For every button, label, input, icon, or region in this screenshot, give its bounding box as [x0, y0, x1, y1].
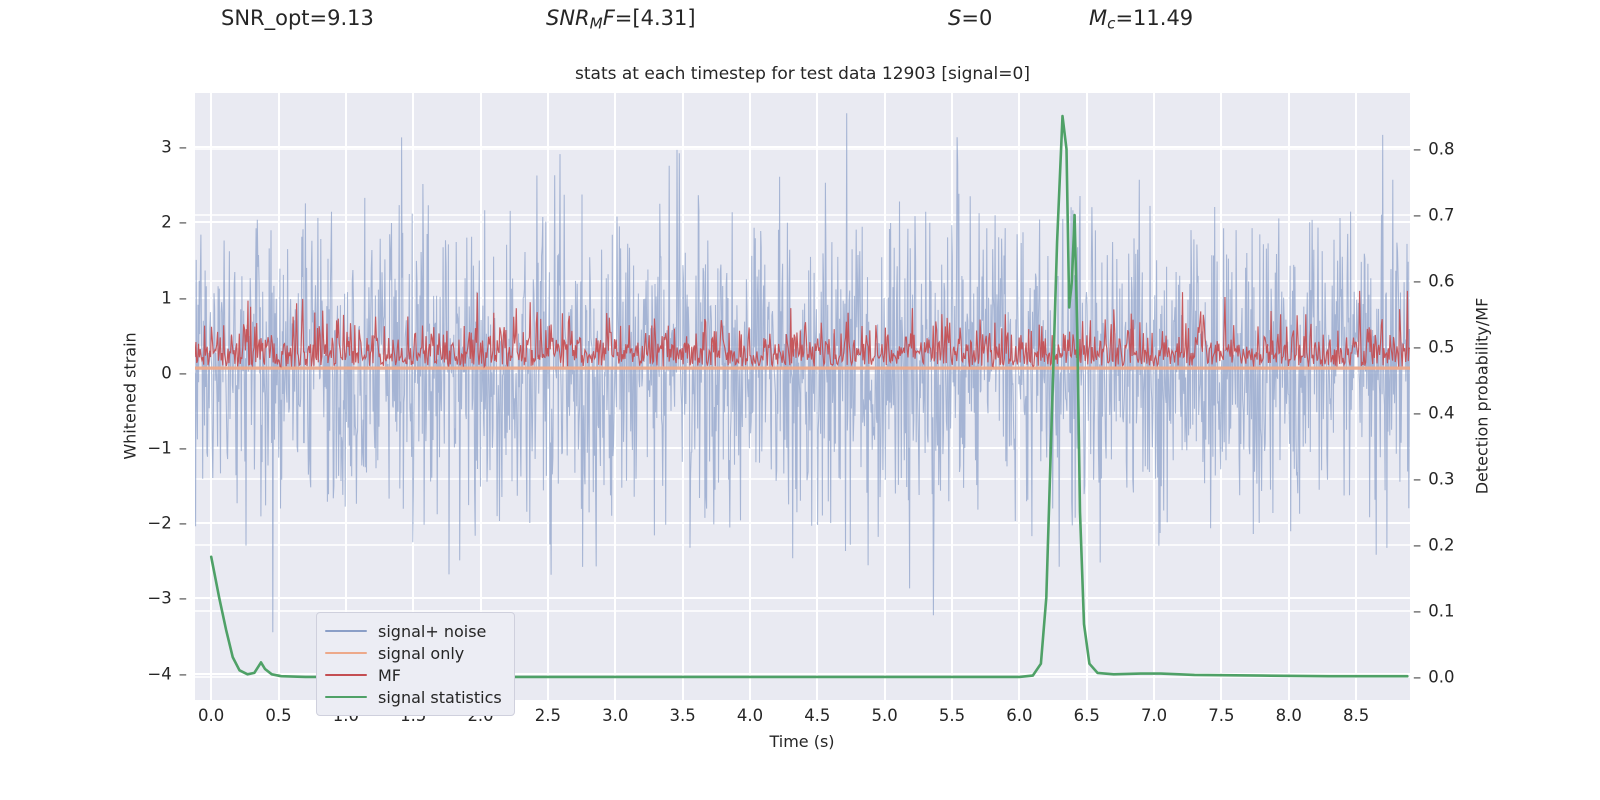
legend-entry-signal-noise[interactable]: signal+ noise — [325, 620, 502, 642]
y-tick-right: –0.5 — [1413, 338, 1455, 357]
y-tick-right: –0.3 — [1413, 469, 1455, 488]
x-tick: 8.5 — [1343, 706, 1369, 725]
legend-label: signal+ noise — [378, 622, 486, 641]
y-tick-right: –0.7 — [1413, 206, 1455, 225]
series-signal-plus-noise — [195, 113, 1410, 632]
legend-swatch-icon — [325, 696, 367, 698]
legend-entry-signal-statistics[interactable]: signal statistics — [325, 686, 502, 708]
legend-swatch-icon — [325, 652, 367, 654]
legend-entry-signal-only[interactable]: signal only — [325, 642, 502, 664]
legend-swatch-icon — [325, 630, 367, 632]
chart-legend[interactable]: signal+ noisesignal onlyMFsignal statist… — [316, 612, 515, 716]
x-tick: 5.0 — [872, 706, 898, 725]
plot-title: stats at each timestep for test data 129… — [195, 64, 1410, 84]
x-tick: 8.0 — [1276, 706, 1302, 725]
legend-swatch-icon — [325, 674, 367, 676]
header-annotations: SNR_opt=9.13 SNRMF=[4.31] S=0 Mc=11.49 — [0, 0, 1600, 44]
y-tick-right: –0.6 — [1413, 272, 1455, 291]
legend-label: MF — [378, 666, 401, 685]
y-tick-left: 0– — [161, 363, 187, 382]
x-axis-label: Time (s) — [769, 732, 834, 751]
annotation-snr-opt: SNR_opt=9.13 — [221, 6, 374, 30]
y-tick-right: –0.0 — [1413, 667, 1455, 686]
y-tick-right: –0.4 — [1413, 403, 1455, 422]
y-tick-left: 2– — [161, 213, 187, 232]
y-tick-left: −4– — [147, 664, 187, 683]
annotation-s-value: 0 — [979, 6, 992, 30]
y-tick-right: –0.2 — [1413, 535, 1455, 554]
plot-area — [195, 93, 1410, 700]
legend-entry-mf[interactable]: MF — [325, 664, 502, 686]
legend-label: signal statistics — [378, 688, 502, 707]
y-tick-left: 1– — [161, 288, 187, 307]
figure: stats at each timestep for test data 129… — [0, 44, 1600, 800]
y-tick-right: –0.8 — [1413, 140, 1455, 159]
y-tick-left: 3– — [161, 138, 187, 157]
x-tick: 2.5 — [535, 706, 561, 725]
x-tick: 6.5 — [1074, 706, 1100, 725]
x-tick: 0.0 — [198, 706, 224, 725]
annotation-chirp-mass-value: 11.49 — [1133, 6, 1193, 30]
annotation-s: S=0 — [948, 6, 992, 30]
y-axis-left-label: Whitened strain — [121, 332, 140, 459]
x-tick: 5.5 — [939, 706, 965, 725]
annotation-snr-mf: SNRMF=[4.31] — [546, 6, 696, 32]
y-tick-right: –0.1 — [1413, 601, 1455, 620]
annotation-chirp-mass: Mc=11.49 — [1089, 6, 1193, 32]
legend-label: signal only — [378, 644, 464, 663]
x-tick: 4.0 — [737, 706, 763, 725]
annotation-snr-mf-value: 4.31 — [641, 6, 688, 30]
y-tick-left: −3– — [147, 589, 187, 608]
x-tick: 3.5 — [669, 706, 695, 725]
x-tick: 6.0 — [1006, 706, 1032, 725]
y-tick-left: −1– — [147, 439, 187, 458]
x-tick: 7.0 — [1141, 706, 1167, 725]
y-tick-left: −2– — [147, 514, 187, 533]
x-tick: 7.5 — [1208, 706, 1234, 725]
chart-traces — [195, 93, 1410, 700]
x-tick: 3.0 — [602, 706, 628, 725]
y-axis-right-label: Detection probability/MF — [1473, 298, 1492, 495]
x-tick: 4.5 — [804, 706, 830, 725]
x-tick: 0.5 — [265, 706, 291, 725]
